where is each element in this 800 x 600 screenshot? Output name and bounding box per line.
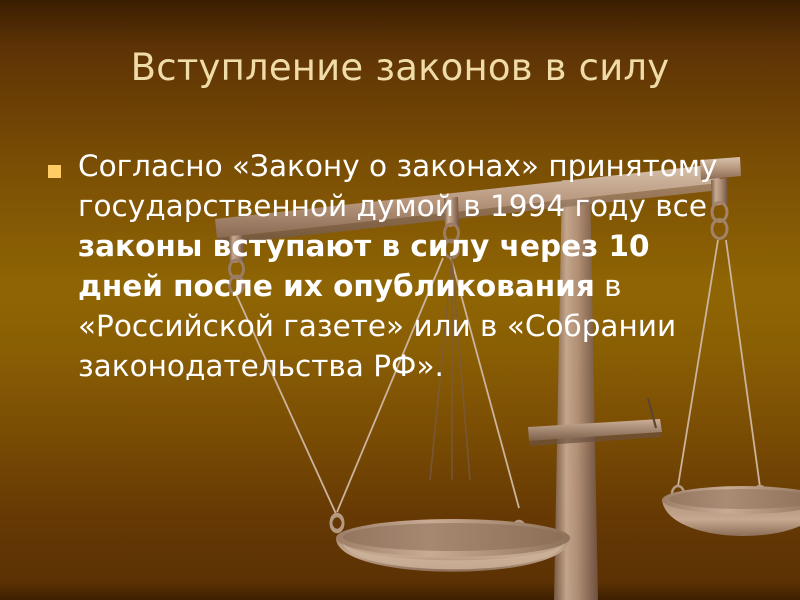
text-run-bold: дней после их опубликования [78, 269, 595, 303]
right-scale-pan [662, 486, 800, 536]
scale-cross-arm [528, 398, 662, 446]
bullet-text-line: государственной думой в 1994 году все [78, 186, 758, 226]
text-run-regular: Согласно «Закону о законах» принятому [78, 149, 718, 183]
slide-body: Согласно «Закону о законах» принятомугос… [46, 146, 758, 386]
bullet-text-line: законы вступают в силу через 10 [78, 226, 758, 266]
text-run-bold: законы вступают в силу через 10 [78, 229, 650, 263]
bullet-list-item: Согласно «Закону о законах» принятомугос… [46, 146, 758, 386]
text-run-regular: «Российской газете» или в «Собрании [78, 309, 676, 343]
slide-title: Вступление законов в силу [0, 46, 800, 90]
text-run-regular: государственной думой в 1994 году все [78, 189, 707, 223]
bullet-text-line: «Российской газете» или в «Собрании [78, 306, 758, 346]
bullet-text-line: законодательства РФ». [78, 346, 758, 386]
bullet-text: Согласно «Закону о законах» принятомугос… [78, 146, 758, 386]
square-bullet-icon [48, 165, 61, 178]
text-run-regular: законодательства РФ». [78, 349, 444, 383]
text-run-regular: в [595, 269, 622, 303]
bullet-text-line: Согласно «Закону о законах» принятому [78, 146, 758, 186]
bullet-text-line: дней после их опубликования в [78, 266, 758, 306]
left-scale-pan [331, 514, 570, 572]
presentation-slide: Вступление законов в силу Согласно «Зако… [0, 0, 800, 600]
